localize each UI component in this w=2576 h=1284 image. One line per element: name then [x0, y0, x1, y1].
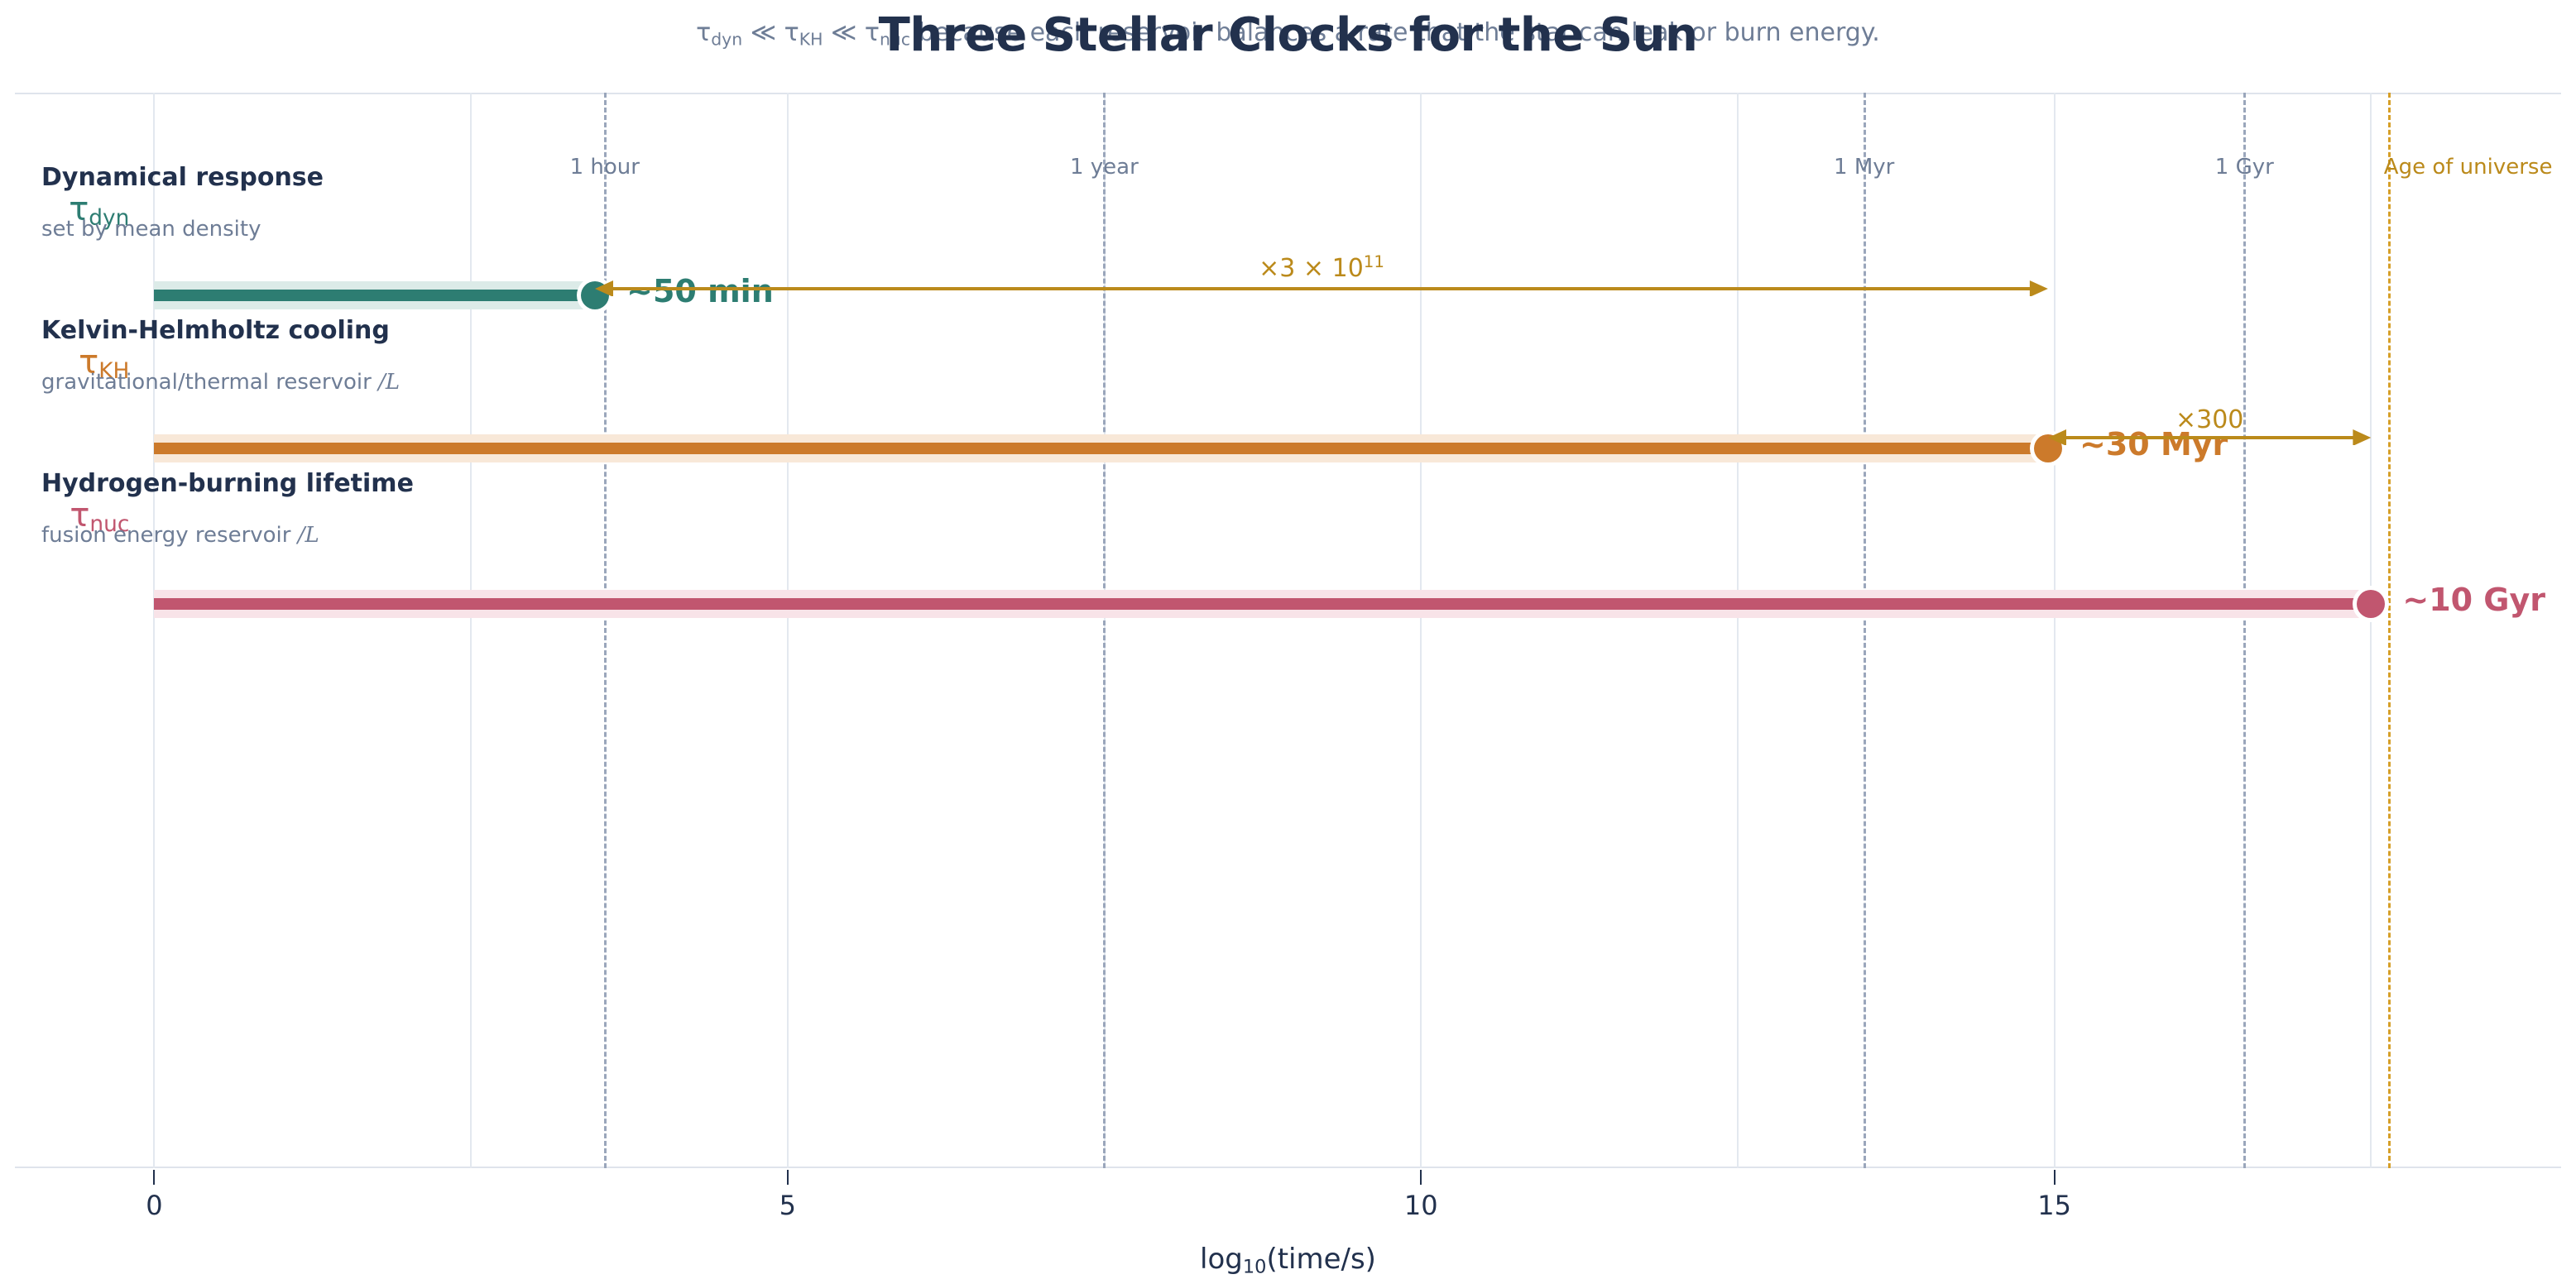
reference-line-1-gyr: [2243, 93, 2246, 1168]
chart-plot-area: 1 hour1 year1 Myr1 GyrAge of universe ~5…: [15, 93, 2561, 1168]
x-axis-title-log: log: [1200, 1243, 1243, 1276]
ratio-label-text: ×3 × 10: [1259, 254, 1364, 283]
row-caption: set by mean density: [41, 217, 261, 242]
page-title: Three Stellar Clocks for the Sun: [0, 8, 2576, 62]
timescale-bar: [154, 598, 2371, 610]
ratio-label: ×3 × 1011: [1259, 252, 1384, 283]
x-tick: [1420, 1170, 1422, 1185]
row-caption: fusion energy reservoir /L: [41, 523, 319, 548]
reference-label-1-hour: 1 hour: [570, 155, 640, 180]
row-caption: gravitational/thermal reservoir /L: [41, 370, 400, 395]
row-title: Hydrogen-burning lifetime: [41, 469, 414, 498]
reference-line-1-year: [1103, 93, 1106, 1168]
x-tick-label: 15: [2037, 1190, 2071, 1221]
ratio-label-exponent: 11: [1364, 252, 1384, 271]
gridline: [1420, 93, 1422, 1168]
chart-header: τdyn ≪ τKH ≪ τnuc because each reservoir…: [0, 0, 2576, 87]
x-tick-label: 10: [1404, 1190, 1438, 1221]
gridline: [2370, 93, 2372, 1168]
row-title: Dynamical response: [41, 163, 324, 192]
row-caption-text: set by mean density: [41, 217, 261, 242]
reference-line-1-hour: [604, 93, 607, 1168]
gridline: [153, 93, 155, 1168]
reference-label-age-of-universe: Age of universe: [2384, 155, 2553, 180]
reference-label-1-year: 1 year: [1070, 155, 1139, 180]
reference-line-1-myr: [1864, 93, 1866, 1168]
x-tick: [787, 1170, 789, 1185]
reference-label-1-gyr: 1 Gyr: [2215, 155, 2274, 180]
gridline: [1737, 93, 1739, 1168]
x-tick-label: 0: [146, 1190, 162, 1221]
row-caption-italic: /L: [378, 370, 400, 395]
x-tick: [2054, 1170, 2056, 1185]
x-tick-label: 5: [780, 1190, 796, 1221]
x-axis-title: log10(time/s): [15, 1243, 2561, 1278]
timescale-bar: [154, 443, 2048, 454]
row-title: Kelvin-Helmholtz cooling: [41, 316, 390, 345]
row-caption-text: fusion energy reservoir: [41, 523, 298, 548]
gridline: [2054, 93, 2056, 1168]
gridline: [787, 93, 789, 1168]
row-caption-italic: /L: [298, 523, 319, 548]
row-caption-text: gravitational/thermal reservoir: [41, 370, 378, 395]
timescale-value-label: ~10 Gyr: [2402, 582, 2545, 618]
gridline: [470, 93, 472, 1168]
ratio-label: ×300: [2175, 405, 2243, 434]
reference-label-1-myr: 1 Myr: [1834, 155, 1894, 180]
timescale-bar: [154, 290, 595, 301]
x-axis-title-base: 10: [1243, 1257, 1267, 1278]
ratio-label-text: ×300: [2175, 405, 2243, 434]
reference-line-age-of-universe: [2388, 93, 2391, 1168]
x-tick: [153, 1170, 155, 1185]
x-axis-title-unit: (time/s): [1266, 1243, 1376, 1276]
